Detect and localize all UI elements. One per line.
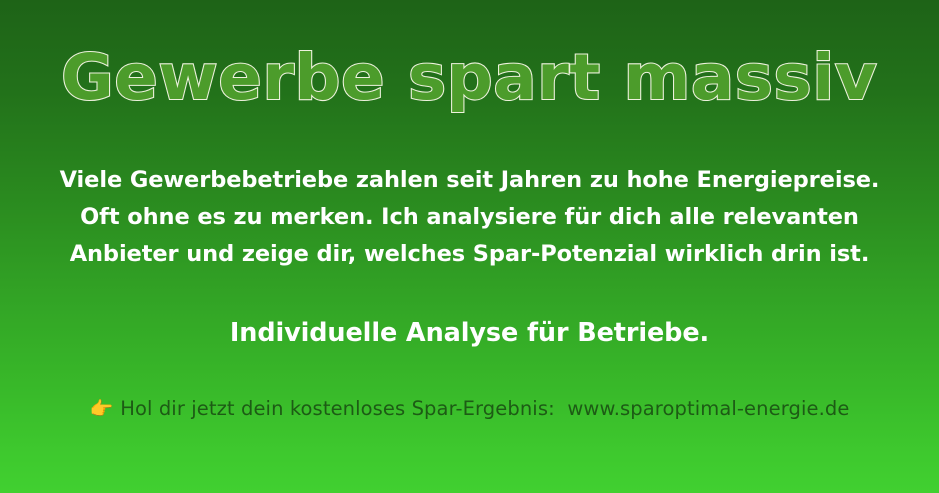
body-line-1: Viele Gewerbebetriebe zahlen seit Jahren… [40,162,900,199]
emphasis-container: Individuelle Analyse für Betriebe. [0,316,939,350]
emphasis-text: Individuelle Analyse für Betriebe. [230,318,709,348]
cta-link-text[interactable]: Hol dir jetzt dein kostenloses Spar-Erge… [120,397,849,421]
headline-container: Gewerbe spart massiv [0,42,939,120]
pointing-right-hand-icon: 👉 [90,398,114,420]
promo-banner: Gewerbe spart massiv Viele Gewerbebetrie… [0,0,939,493]
call-to-action[interactable]: 👉 Hol dir jetzt dein kostenloses Spar-Er… [0,397,939,421]
page-title: Gewerbe spart massiv [61,42,877,114]
body-line-2: Oft ohne es zu merken. Ich analysiere fü… [40,199,900,236]
body-paragraph: Viele Gewerbebetriebe zahlen seit Jahren… [40,162,900,273]
body-line-3: Anbieter und zeige dir, welches Spar-Pot… [40,236,900,273]
